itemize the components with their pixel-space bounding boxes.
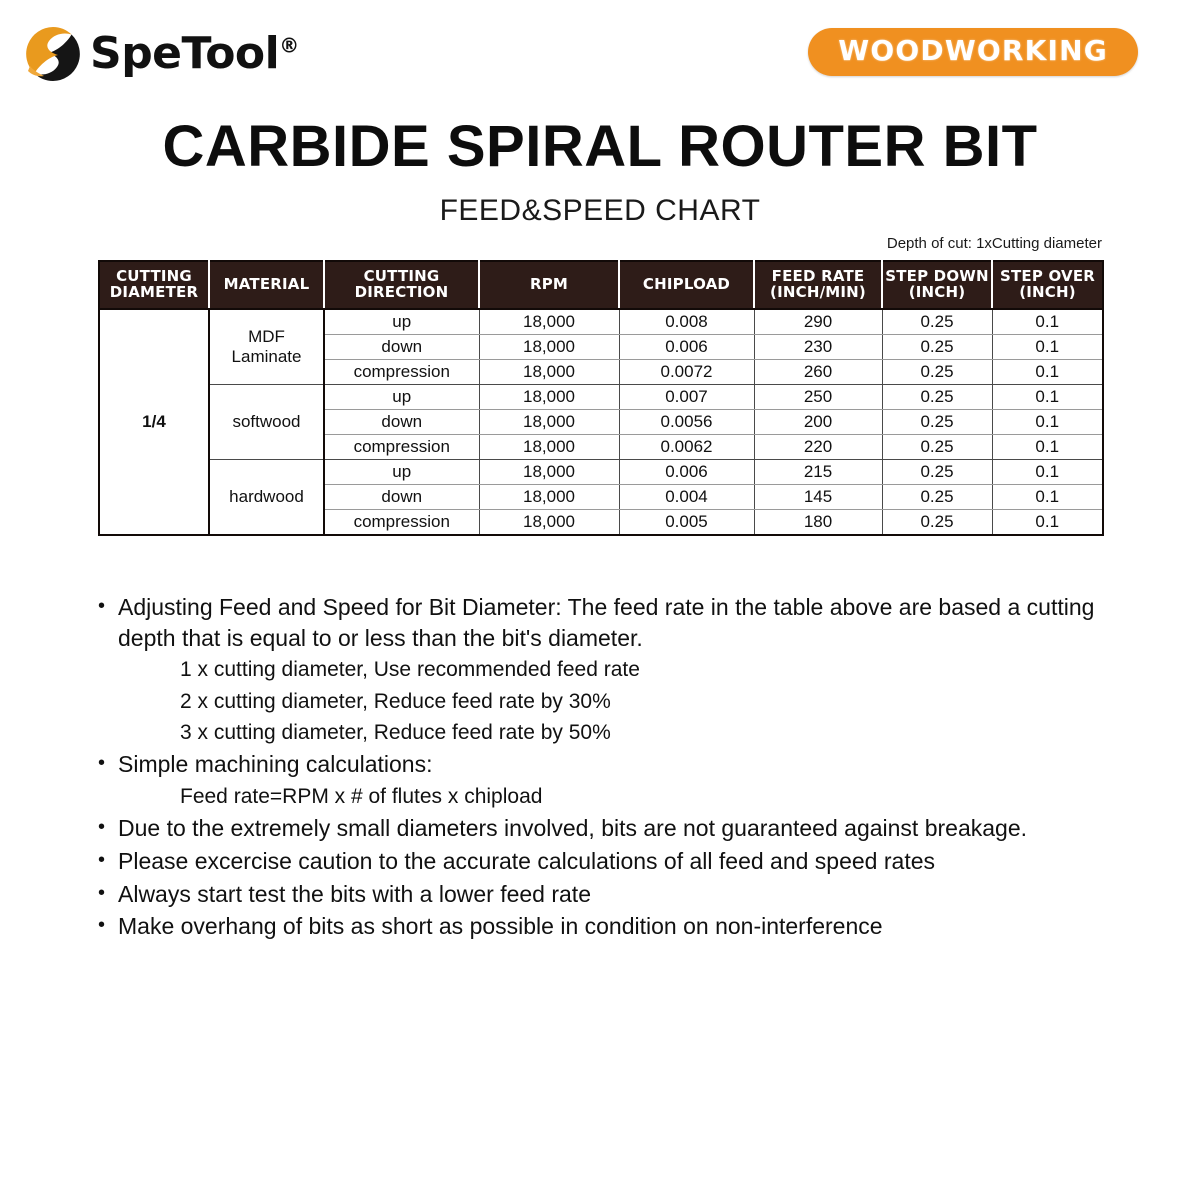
bullet-icon: • — [98, 592, 118, 621]
note-text: Adjusting Feed and Speed for Bit Diamete… — [118, 592, 1158, 653]
note-item: • Make overhang of bits as short as poss… — [98, 911, 1158, 942]
bullet-icon: • — [98, 879, 118, 908]
note-text: Due to the extremely small diameters inv… — [118, 813, 1158, 844]
cell-rpm: 18,000 — [479, 359, 619, 384]
cell-rpm: 18,000 — [479, 409, 619, 434]
col-header-cutting-diameter: CUTTING DIAMETER — [99, 261, 209, 309]
cell-chipload: 0.006 — [619, 459, 754, 484]
cell-step-down: 0.25 — [882, 409, 992, 434]
cell-step-down: 0.25 — [882, 509, 992, 535]
table-row: hardwood up 18,000 0.006 215 0.25 0.1 — [99, 459, 1103, 484]
note-text: Simple machining calculations: — [118, 749, 1158, 780]
cell-feed-rate: 215 — [754, 459, 882, 484]
note-item: • Due to the extremely small diameters i… — [98, 813, 1158, 844]
woodworking-badge-label: WOODWORKING — [838, 37, 1108, 65]
cell-step-over: 0.1 — [992, 334, 1103, 359]
cell-feed-rate: 220 — [754, 434, 882, 459]
cell-feed-rate: 200 — [754, 409, 882, 434]
cell-chipload: 0.0056 — [619, 409, 754, 434]
cell-feed-rate: 250 — [754, 384, 882, 409]
note-item: • Please excercise caution to the accura… — [98, 846, 1158, 877]
cell-chipload: 0.0072 — [619, 359, 754, 384]
cell-rpm: 18,000 — [479, 484, 619, 509]
cell-material-softwood: softwood — [209, 384, 324, 459]
cell-step-down: 0.25 — [882, 384, 992, 409]
cell-rpm: 18,000 — [479, 334, 619, 359]
note-text: Make overhang of bits as short as possib… — [118, 911, 1158, 942]
brand-logo: SpeTool® — [22, 24, 299, 84]
brand-name-text: SpeTool — [90, 28, 279, 79]
cell-cutting-direction: down — [324, 334, 479, 359]
col-header-material: MATERIAL — [209, 261, 324, 309]
cell-rpm: 18,000 — [479, 309, 619, 335]
cell-cutting-direction: up — [324, 384, 479, 409]
cell-cutting-direction: down — [324, 409, 479, 434]
cell-cutting-direction: compression — [324, 359, 479, 384]
cell-step-over: 0.1 — [992, 459, 1103, 484]
cell-step-down: 0.25 — [882, 434, 992, 459]
cell-step-over: 0.1 — [992, 484, 1103, 509]
depth-of-cut-note: Depth of cut: 1xCutting diameter — [887, 236, 1102, 251]
cell-rpm: 18,000 — [479, 384, 619, 409]
cell-chipload: 0.005 — [619, 509, 754, 535]
cell-step-over: 0.1 — [992, 384, 1103, 409]
cell-cutting-direction: down — [324, 484, 479, 509]
cell-rpm: 18,000 — [479, 459, 619, 484]
cell-cutting-direction: up — [324, 309, 479, 335]
spetool-swirl-logo-icon — [22, 23, 84, 85]
cell-cutting-direction: compression — [324, 509, 479, 535]
cell-material-mdf-laminate: MDF Laminate — [209, 309, 324, 385]
note-item: • Always start test the bits with a lowe… — [98, 879, 1158, 910]
cell-step-down: 0.25 — [882, 334, 992, 359]
notes-list: • Adjusting Feed and Speed for Bit Diame… — [98, 592, 1158, 944]
page-subtitle: FEED&SPEED CHART — [0, 196, 1200, 226]
bullet-icon: • — [98, 813, 118, 842]
note-sub-item: 3 x cutting diameter, Reduce feed rate b… — [180, 718, 1158, 748]
note-sub-item: Feed rate=RPM x # of flutes x chipload — [180, 782, 1158, 812]
cell-feed-rate: 180 — [754, 509, 882, 535]
cell-feed-rate: 145 — [754, 484, 882, 509]
col-header-rpm: RPM — [479, 261, 619, 309]
note-item: • Simple machining calculations: — [98, 749, 1158, 780]
feed-speed-table: CUTTING DIAMETER MATERIAL CUTTING DIRECT… — [98, 260, 1104, 536]
cell-chipload: 0.007 — [619, 384, 754, 409]
table-row: softwood up 18,000 0.007 250 0.25 0.1 — [99, 384, 1103, 409]
cell-step-down: 0.25 — [882, 484, 992, 509]
col-header-step-over: STEP OVER (INCH) — [992, 261, 1103, 309]
col-header-cutting-direction: CUTTING DIRECTION — [324, 261, 479, 309]
cell-feed-rate: 290 — [754, 309, 882, 335]
cell-cutting-direction: compression — [324, 434, 479, 459]
cell-chipload: 0.006 — [619, 334, 754, 359]
page-title: CARBIDE SPIRAL ROUTER BIT — [0, 118, 1200, 176]
cell-step-over: 0.1 — [992, 409, 1103, 434]
cell-step-over: 0.1 — [992, 509, 1103, 535]
note-sub-item: 2 x cutting diameter, Reduce feed rate b… — [180, 687, 1158, 717]
cell-step-down: 0.25 — [882, 359, 992, 384]
cell-feed-rate: 230 — [754, 334, 882, 359]
cell-chipload: 0.0062 — [619, 434, 754, 459]
cell-material-hardwood: hardwood — [209, 459, 324, 535]
col-header-feed-rate: FEED RATE (INCH/MIN) — [754, 261, 882, 309]
table-header-row: CUTTING DIAMETER MATERIAL CUTTING DIRECT… — [99, 261, 1103, 309]
cell-cutting-diameter: 1/4 — [99, 309, 209, 535]
cell-step-over: 0.1 — [992, 434, 1103, 459]
woodworking-badge: WOODWORKING — [808, 28, 1138, 76]
col-header-chipload: CHIPLOAD — [619, 261, 754, 309]
brand-name: SpeTool® — [90, 32, 299, 76]
cell-chipload: 0.008 — [619, 309, 754, 335]
cell-step-down: 0.25 — [882, 459, 992, 484]
cell-rpm: 18,000 — [479, 509, 619, 535]
col-header-step-down: STEP DOWN (INCH) — [882, 261, 992, 309]
cell-step-over: 0.1 — [992, 309, 1103, 335]
registered-trademark-icon: ® — [279, 33, 299, 57]
cell-cutting-direction: up — [324, 459, 479, 484]
bullet-icon: • — [98, 911, 118, 940]
cell-rpm: 18,000 — [479, 434, 619, 459]
bullet-icon: • — [98, 749, 118, 778]
cell-step-down: 0.25 — [882, 309, 992, 335]
cell-chipload: 0.004 — [619, 484, 754, 509]
note-item: • Adjusting Feed and Speed for Bit Diame… — [98, 592, 1158, 653]
cell-step-over: 0.1 — [992, 359, 1103, 384]
note-text: Always start test the bits with a lower … — [118, 879, 1158, 910]
note-sub-item: 1 x cutting diameter, Use recommended fe… — [180, 655, 1158, 685]
table-row: 1/4 MDF Laminate up 18,000 0.008 290 0.2… — [99, 309, 1103, 335]
cell-feed-rate: 260 — [754, 359, 882, 384]
note-text: Please excercise caution to the accurate… — [118, 846, 1158, 877]
bullet-icon: • — [98, 846, 118, 875]
